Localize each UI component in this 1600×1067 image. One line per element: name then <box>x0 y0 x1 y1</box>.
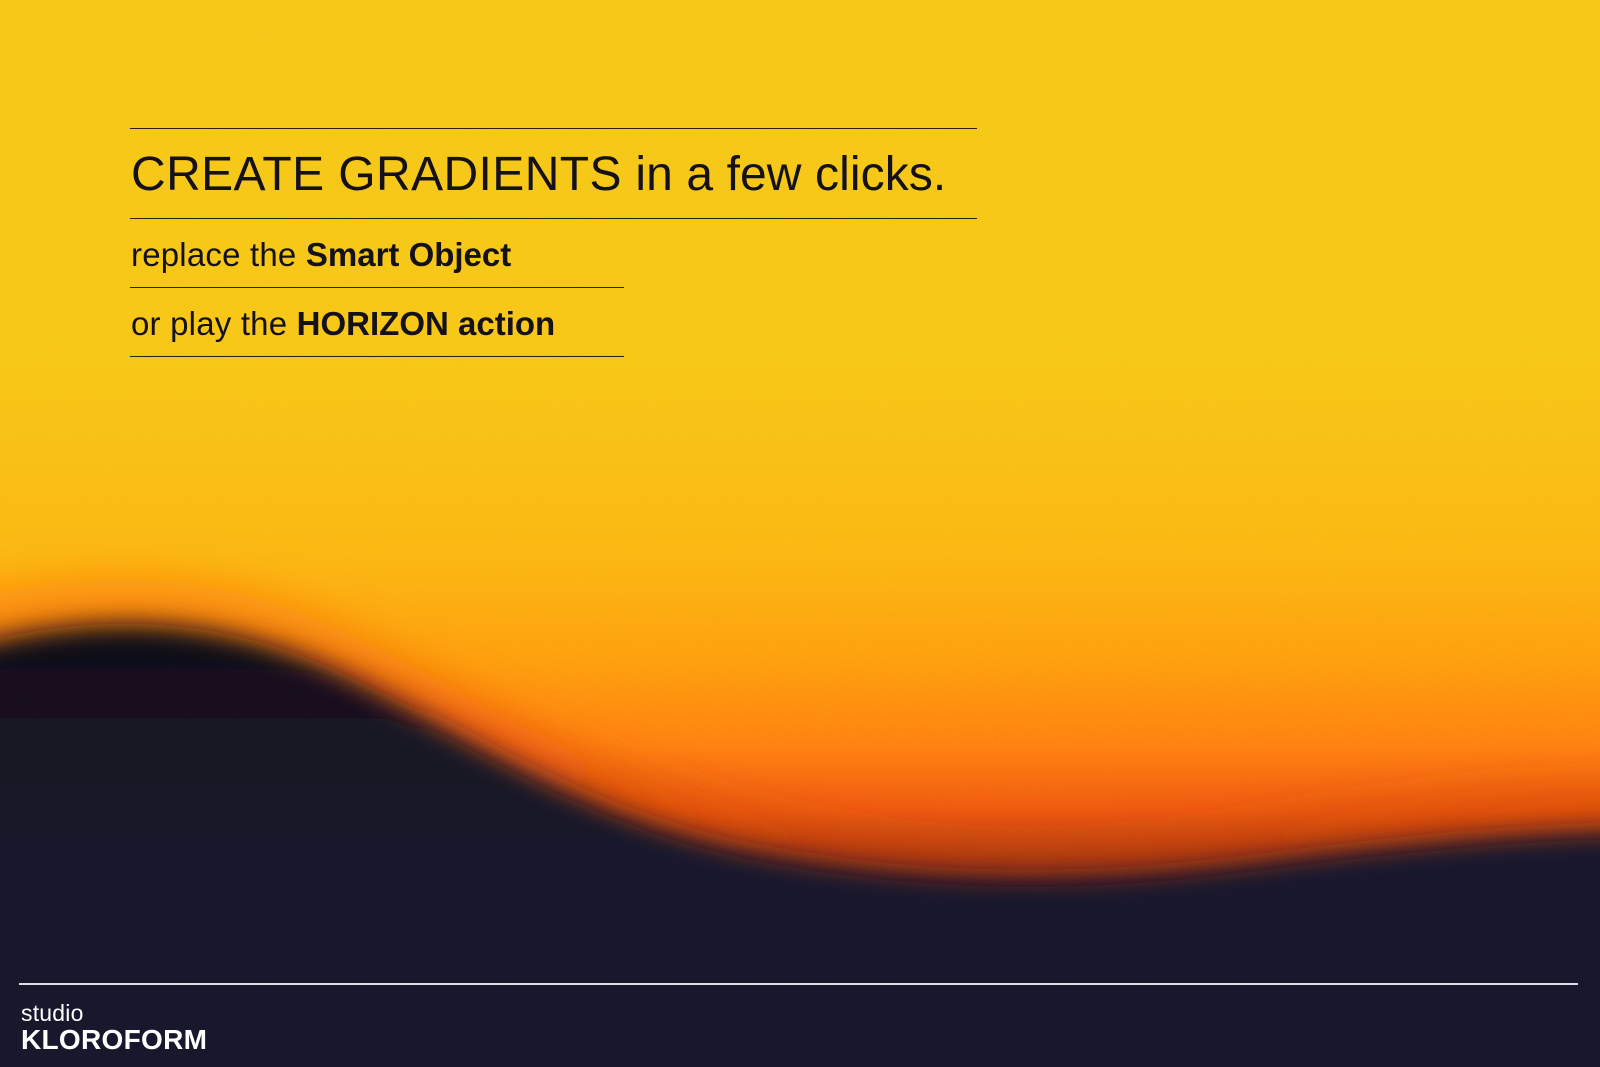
brand-studio-label: studio <box>21 1002 1578 1026</box>
instruction-one-light: replace the <box>131 236 306 273</box>
poster-canvas: CREATE GRADIENTS in a few clicks. replac… <box>0 0 1600 1067</box>
rule-between-instructions <box>130 287 624 288</box>
instruction-one-strong: Smart Object <box>306 236 511 273</box>
copy-block: CREATE GRADIENTS in a few clicks. replac… <box>130 128 977 357</box>
instruction-line-one: replace the Smart Object <box>130 219 977 287</box>
brand-name: KLOROFORM <box>21 1026 1578 1055</box>
instruction-two-light: or play the <box>131 305 297 342</box>
footer-rule <box>19 983 1578 985</box>
rule-above-headline <box>130 128 977 129</box>
rule-below-headline <box>130 218 977 219</box>
instruction-two-strong: HORIZON action <box>297 305 556 342</box>
brand-logo: studio KLOROFORM <box>19 1002 1578 1055</box>
rule-below-instructions <box>130 356 624 357</box>
footer-branding: studio KLOROFORM <box>19 983 1578 1055</box>
headline-lead: CREATE GRADIENTS <box>131 148 622 201</box>
instruction-line-two: or play the HORIZON action <box>130 288 977 356</box>
page-title: CREATE GRADIENTS in a few clicks. <box>130 129 977 218</box>
headline-tail: in a few clicks. <box>622 148 946 201</box>
